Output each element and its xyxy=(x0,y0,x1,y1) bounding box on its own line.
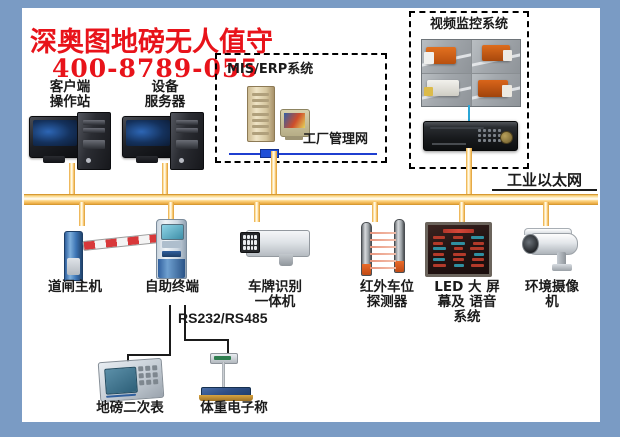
factory-network-label: 工厂管理网 xyxy=(303,132,393,147)
desktop-computer-icon xyxy=(122,112,208,168)
dvr-recorder-icon xyxy=(423,121,518,151)
diagram-frame: 深奥图地磅无人值守 400-8789-055 客户端 操作站 设备 服务器 MI… xyxy=(0,0,620,437)
label-led-display: LED 大 屏 幕及 语音 系统 xyxy=(422,280,512,325)
barrier-gate-icon xyxy=(42,223,152,281)
serial-trunk-left xyxy=(169,305,171,356)
led-display-icon xyxy=(425,222,492,277)
mis-erp-title: MIS/ERP系统 xyxy=(227,62,377,77)
mis-bus-line xyxy=(229,153,377,155)
label-device-server: 设备 服务器 xyxy=(117,80,213,110)
label-platform-scale: 体重电子称 xyxy=(182,401,286,416)
label-barrier-gate: 道闸主机 xyxy=(27,280,123,295)
bus-drop-server xyxy=(162,163,168,197)
label-client-workstation: 客户端 操作站 xyxy=(22,80,118,110)
industrial-ethernet-bus xyxy=(24,194,598,205)
serial-protocol-label: RS232/RS485 xyxy=(178,311,308,326)
label-infrared-detector: 红外车位 探测器 xyxy=(341,280,433,310)
bus-drop-lpr xyxy=(254,202,260,222)
diagram-canvas: 深奥图地磅无人值守 400-8789-055 客户端 操作站 设备 服务器 MI… xyxy=(22,8,600,422)
bus-drop-led xyxy=(459,202,465,224)
bus-drop-mis xyxy=(271,151,277,197)
bus-drop-video xyxy=(466,148,472,197)
desktop-computer-icon xyxy=(29,112,115,168)
weigh-indicator-icon xyxy=(98,358,165,402)
license-plate-camera-icon xyxy=(232,220,318,276)
video-link-line xyxy=(468,105,470,121)
serial-branch-indicator xyxy=(127,354,171,356)
platform-scale-icon xyxy=(198,353,268,405)
industrial-ethernet-label: 工业以太网 xyxy=(492,173,597,191)
video-surveillance-title: 视频监控系统 xyxy=(409,17,529,32)
label-license-plate-camera: 车牌识别 一体机 xyxy=(225,280,325,310)
label-weigh-indicator: 地磅二次表 xyxy=(78,401,182,416)
label-environment-camera: 环境摄像 机 xyxy=(509,280,595,310)
video-wall-icon xyxy=(421,39,521,107)
bus-drop-client xyxy=(69,163,75,197)
serial-branch-scale xyxy=(184,339,229,341)
label-self-service-kiosk: 自助终端 xyxy=(126,280,218,295)
infrared-detector-icon xyxy=(349,218,419,278)
self-service-kiosk-icon xyxy=(156,219,187,279)
bullet-camera-icon xyxy=(511,220,591,278)
